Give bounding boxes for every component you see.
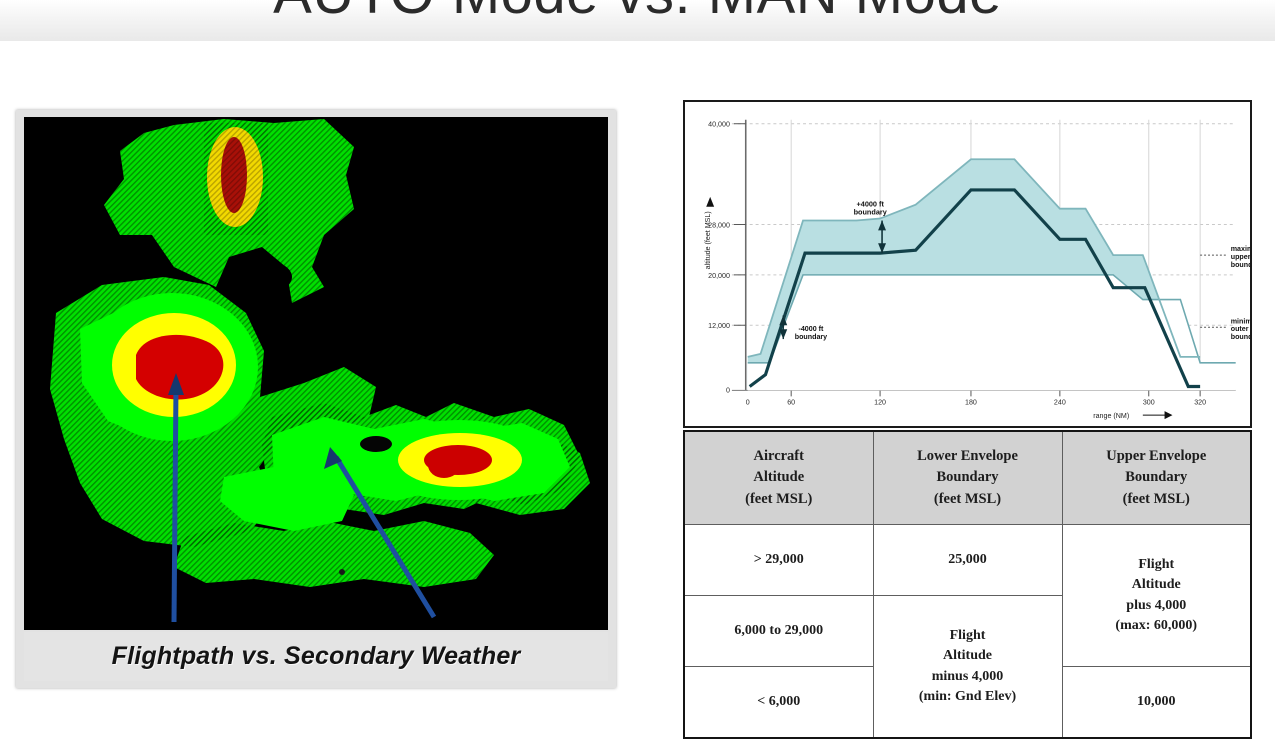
col-header-aircraft-altitude-l1: Aircraft — [689, 446, 869, 467]
radar-echo-svg — [24, 117, 608, 630]
max-upper-line1: maximum — [1231, 245, 1250, 253]
max-upper-line3: boundary — [1231, 261, 1250, 269]
title-banner: AUTO Mode vs. MAN Mode — [0, 0, 1275, 41]
x-tick-0: 0 — [746, 398, 750, 406]
cell-upper-row3: 10,000 — [1062, 667, 1251, 739]
x-tick-240: 240 — [1054, 398, 1066, 406]
cell-upper-merged-l1: Flight — [1067, 555, 1247, 575]
cell-upper-merged-l3: plus 4,000 — [1067, 596, 1247, 616]
table-row: > 29,000 25,000 Flight Altitude plus 4,0… — [684, 525, 1251, 596]
echo-cell-west — [86, 293, 258, 441]
minus-4000-label-line1: -4000 ft — [798, 325, 824, 333]
col-header-lower-envelope-l3: (feet MSL) — [878, 489, 1058, 510]
min-outer-line1: minimum — [1231, 317, 1250, 325]
weather-radar-image — [24, 117, 608, 630]
col-header-lower-envelope-l1: Lower Envelope — [878, 446, 1058, 467]
col-header-upper-envelope-l3: (feet MSL) — [1067, 489, 1247, 510]
cell-upper-merged: Flight Altitude plus 4,000 (max: 60,000) — [1062, 525, 1251, 667]
col-header-aircraft-altitude: Aircraft Altitude (feet MSL) — [684, 431, 873, 525]
col-header-upper-envelope: Upper Envelope Boundary (feet MSL) — [1062, 431, 1251, 525]
cell-altitude-row2: 6,000 to 29,000 — [684, 596, 873, 667]
x-tick-180: 180 — [965, 398, 977, 406]
right-panel: +4000 ft boundary -4000 ft boundary maxi… — [683, 100, 1253, 720]
cell-lower-merged-l1: Flight — [878, 626, 1058, 646]
table-body: > 29,000 25,000 Flight Altitude plus 4,0… — [684, 525, 1251, 739]
table-header-row: Aircraft Altitude (feet MSL) Lower Envel… — [684, 431, 1251, 525]
radar-panel: Flightpath vs. Secondary Weather — [16, 110, 616, 688]
col-header-aircraft-altitude-l2: Altitude — [689, 467, 869, 488]
y-tick-0: 0 — [726, 386, 730, 394]
x-axis-title: range (NM) — [1093, 412, 1129, 420]
col-header-aircraft-altitude-l3: (feet MSL) — [689, 489, 869, 510]
x-tick-60: 60 — [787, 398, 795, 406]
y-tick-40000: 40,000 — [708, 121, 730, 129]
y-tick-20000: 20,000 — [708, 272, 730, 280]
table-header: Aircraft Altitude (feet MSL) Lower Envel… — [684, 431, 1251, 525]
cell-upper-merged-l2: Altitude — [1067, 575, 1247, 595]
min-outer-line2: outer — [1231, 325, 1249, 333]
echo-cell-north — [204, 123, 268, 235]
chart-svg: +4000 ft boundary -4000 ft boundary maxi… — [685, 102, 1250, 426]
x-tick-300: 300 — [1143, 398, 1155, 406]
y-axis-title: altitude (feet MSL) — [704, 211, 712, 269]
cell-altitude-row3: < 6,000 — [684, 667, 873, 739]
cell-altitude-row1: > 29,000 — [684, 525, 873, 596]
flight-envelope-chart: +4000 ft boundary -4000 ft boundary maxi… — [683, 100, 1252, 428]
cell-lower-merged-l4: (min: Gnd Elev) — [878, 687, 1058, 707]
cell-lower-merged: Flight Altitude minus 4,000 (min: Gnd El… — [873, 596, 1062, 739]
plus-4000-label-line2: boundary — [854, 208, 888, 217]
radar-caption-bar: Flightpath vs. Secondary Weather — [24, 632, 608, 681]
echo-cell-southeast — [371, 420, 547, 500]
max-upper-line2: upper — [1231, 253, 1250, 261]
cell-upper-merged-l4: (max: 60,000) — [1067, 616, 1247, 636]
envelope-boundary-table: Aircraft Altitude (feet MSL) Lower Envel… — [683, 430, 1252, 739]
y-tick-12000: 12,000 — [708, 322, 730, 330]
cell-lower-row1: 25,000 — [873, 525, 1062, 596]
col-header-lower-envelope: Lower Envelope Boundary (feet MSL) — [873, 431, 1062, 525]
x-tick-320: 320 — [1194, 398, 1206, 406]
x-tick-120: 120 — [874, 398, 886, 406]
col-header-upper-envelope-l1: Upper Envelope — [1067, 446, 1247, 467]
minus-4000-label-line2: boundary — [795, 333, 827, 341]
col-header-upper-envelope-l2: Boundary — [1067, 467, 1247, 488]
min-outer-line3: boundary — [1231, 333, 1250, 341]
cell-lower-merged-l2: Altitude — [878, 646, 1058, 666]
radar-caption-text: Flightpath vs. Secondary Weather — [112, 642, 521, 671]
page-title: AUTO Mode vs. MAN Mode — [0, 0, 1275, 27]
col-header-lower-envelope-l2: Boundary — [878, 467, 1058, 488]
cell-lower-merged-l3: minus 4,000 — [878, 667, 1058, 687]
